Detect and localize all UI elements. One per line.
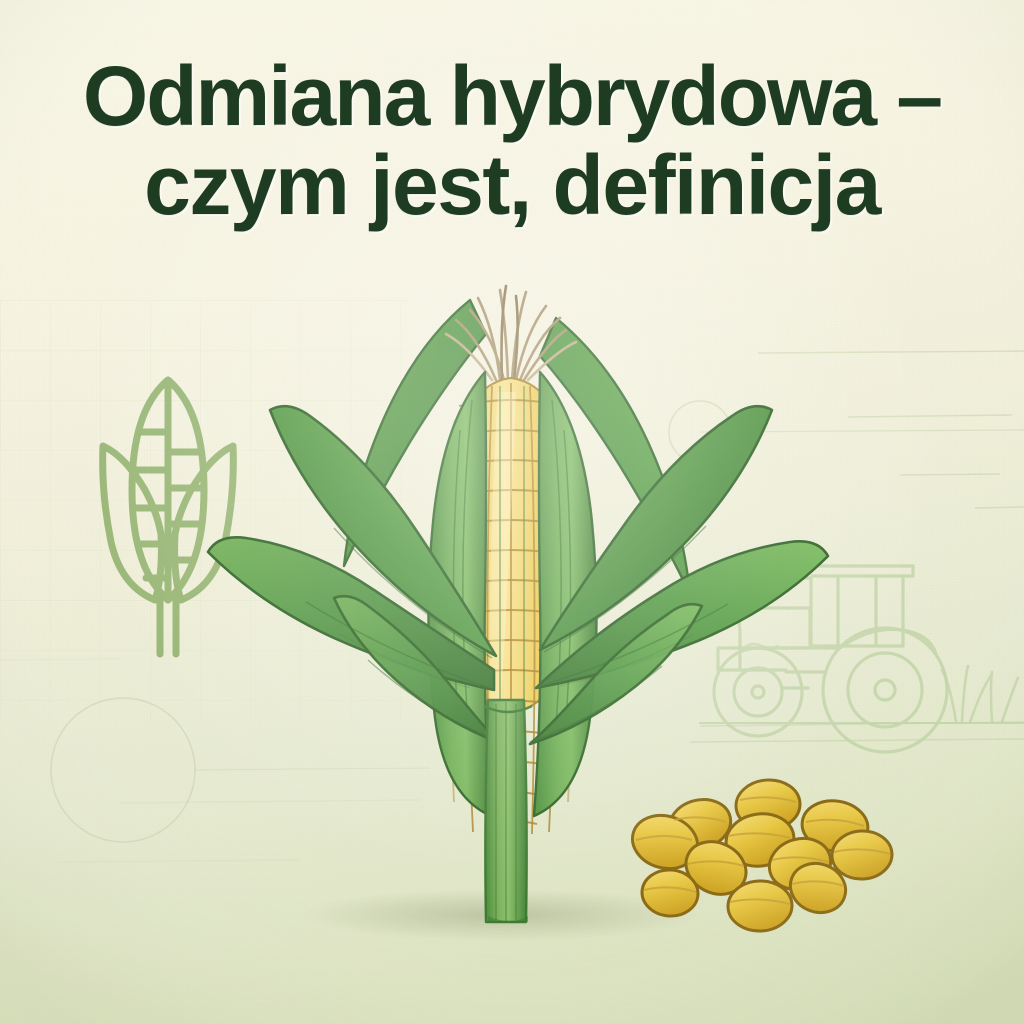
poster-canvas: Odmiana hybrydowa – czym jest, definicja: [0, 0, 1024, 1024]
title-line-2: czym jest, definicja: [40, 141, 984, 230]
corn-stem: [484, 700, 532, 922]
title-line-1: Odmiana hybrydowa –: [40, 52, 984, 141]
grass-tuft-sketch: [942, 666, 1018, 722]
page-title: Odmiana hybrydowa – czym jest, definicja: [0, 52, 1024, 230]
corn-seeds: [626, 778, 893, 932]
seed: [727, 880, 793, 932]
seed: [831, 829, 893, 880]
